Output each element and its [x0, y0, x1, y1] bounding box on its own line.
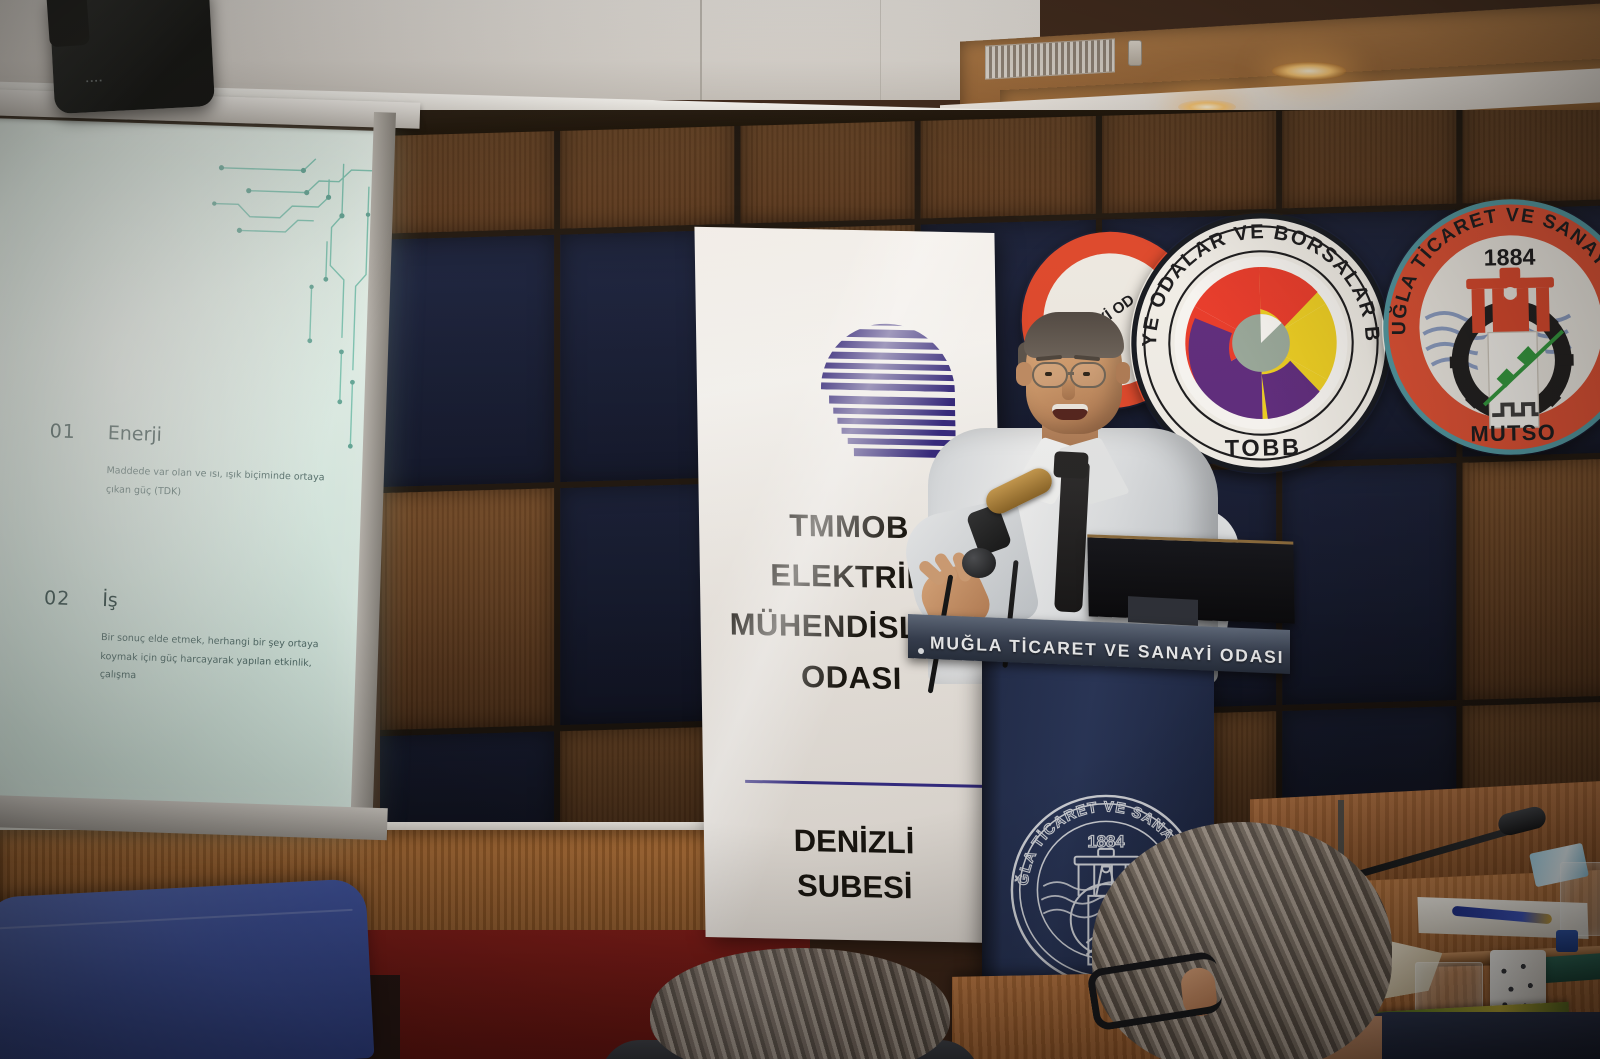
conference-room-photo: 01 Enerji Maddede var olan ve ısı, ışık …	[0, 0, 1600, 1059]
chair-seam	[0, 909, 353, 930]
water-glass	[1560, 862, 1600, 936]
mutso-bottom-text: MUTSO	[1470, 420, 1556, 447]
banner-sub-line: SUBESİ	[704, 862, 1005, 913]
ceiling-downlight	[1272, 62, 1346, 80]
smoke-detector-icon	[1128, 40, 1142, 66]
podium-emblem-year: 1884	[1087, 832, 1125, 851]
slide-item-number: 02	[41, 587, 70, 683]
wall-panel-wood	[921, 110, 1095, 218]
podium-side-shadow	[982, 660, 1002, 1001]
podium-plaque-dot	[918, 648, 924, 654]
presenter-hair	[1024, 312, 1124, 358]
presenter-ear-right	[1116, 362, 1130, 384]
mutso-year: 1884	[1483, 244, 1535, 271]
speaker-mount-bracket	[46, 0, 90, 47]
slide-content: 01 Enerji Maddede var olan ve ısı, ışık …	[38, 420, 340, 782]
nose	[1062, 380, 1075, 400]
green-notebook	[1539, 953, 1600, 984]
audience-shoulders	[1348, 1012, 1600, 1059]
ceiling-vent-grille	[985, 38, 1115, 79]
mouth-speaking	[1052, 404, 1088, 420]
slide-item-title: İş	[102, 589, 334, 619]
presenter-ear-left	[1016, 362, 1032, 386]
necktie-knot	[1053, 451, 1088, 479]
chair-backrest	[0, 878, 374, 1059]
slide-item: 01 Enerji Maddede var olan ve ısı, ışık …	[47, 420, 339, 507]
wall-panel-wood	[741, 110, 915, 224]
monitor-stand	[1128, 596, 1198, 626]
ceiling-fold	[700, 0, 702, 100]
banner-sub-line: DENİZLİ	[704, 817, 1005, 868]
microphone-joint	[962, 548, 996, 578]
wall-panel-wood	[1102, 110, 1276, 213]
wall-panel-navy	[380, 235, 554, 487]
wall-panel-navy	[1282, 463, 1456, 705]
banner-divider	[745, 780, 995, 788]
bottle-cap	[1556, 930, 1578, 952]
wall-panel-wood	[380, 488, 554, 730]
eye-right	[1083, 372, 1090, 376]
slide-item-description: Maddede var olan ve ısı, ışık biçiminde …	[106, 462, 339, 507]
banner-branch-text: DENİZLİ SUBESİ	[704, 817, 1005, 913]
projector-screen: 01 Enerji Maddede var olan ve ısı, ışık …	[0, 118, 388, 831]
slide-item-description: Bir sonuç elde etmek, herhangi bir şey o…	[99, 629, 333, 692]
wall-panel-wood	[1462, 110, 1600, 203]
eyeglasses-bridge	[1068, 372, 1074, 375]
eye-left	[1045, 372, 1052, 376]
ceiling-fold-secondary	[880, 0, 881, 100]
wall-panel-wood	[1462, 458, 1600, 700]
slide-item-number: 01	[47, 420, 76, 498]
wall-panel-wood	[1282, 110, 1456, 208]
slide-item: 02 İş Bir sonuç elde etmek, herhangi bir…	[41, 587, 334, 692]
speaker-brand-label: ▪▪▪▪	[86, 78, 104, 86]
